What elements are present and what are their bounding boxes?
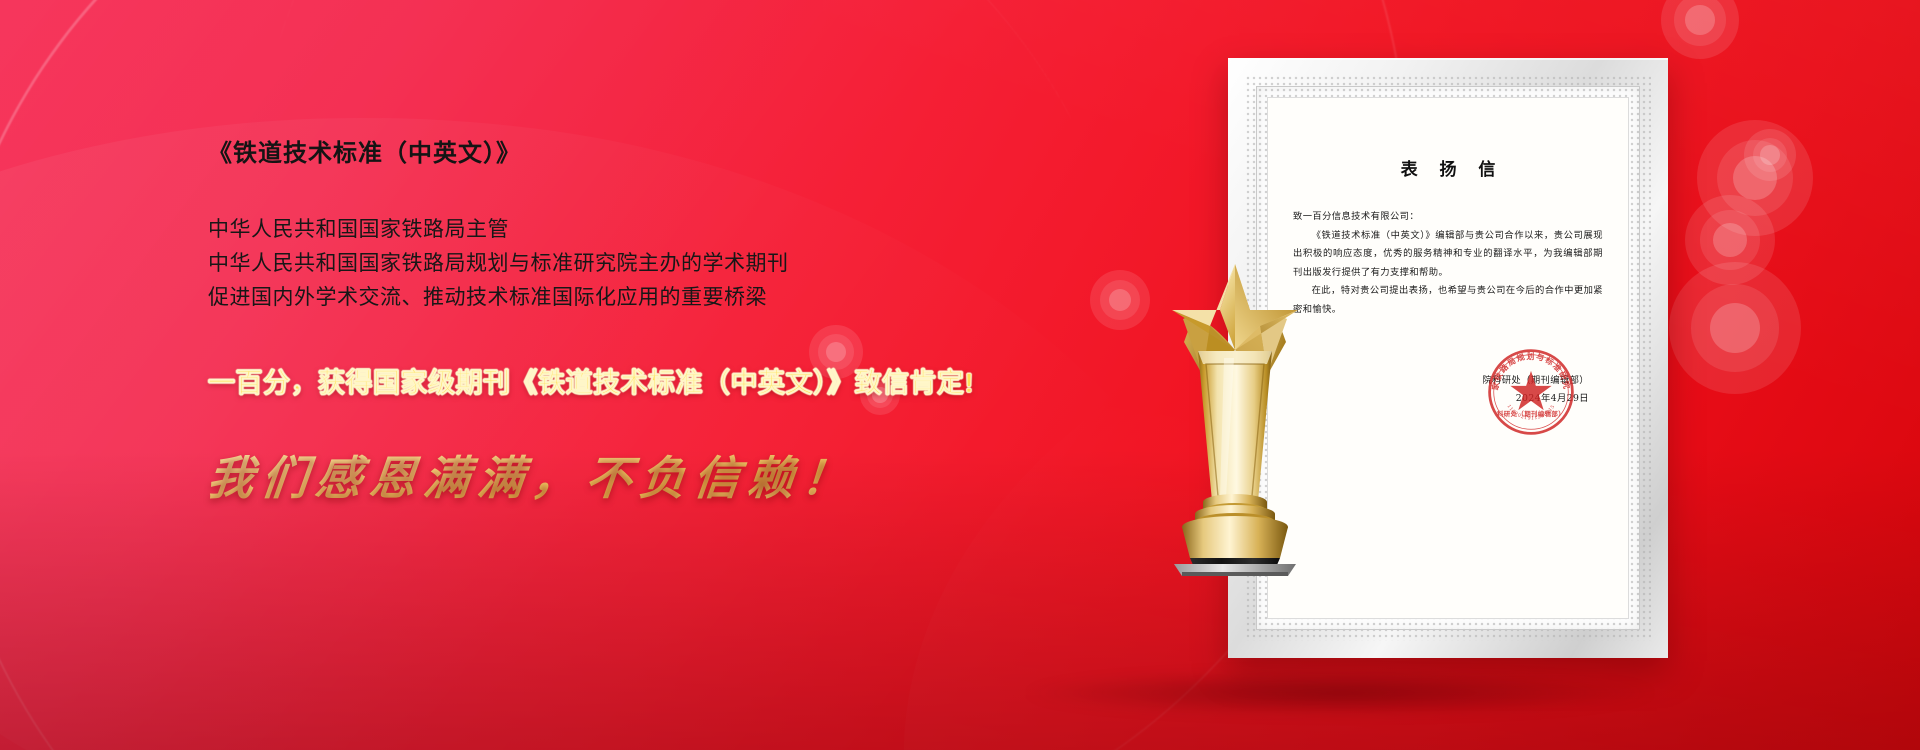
award-banner: 《铁道技术标准（中英文）》 中华人民共和国国家铁路局主管 中华人民共和国国家铁路… <box>0 0 1920 750</box>
journal-subtitle-item: 中华人民共和国国家铁路局主管 <box>208 213 1028 247</box>
star-trophy-icon <box>1140 246 1330 576</box>
certificate-paragraph: 在此，特对贵公司提出表扬，也希望与贵公司在今后的合作中更加紧密和愉快。 <box>1293 282 1603 319</box>
journal-subtitle-item: 中华人民共和国国家铁路局规划与标准研究院主办的学术期刊 <box>208 247 1028 281</box>
bokeh-circle <box>1661 0 1739 59</box>
official-seal-icon: 国家铁路局规划与标准研究院 1102021911230015 科研处（期刊编辑部… <box>1485 346 1577 438</box>
trophy-floor-shadow <box>1020 670 1660 716</box>
gratitude-slogan: 我们感恩满满，不负信赖！ <box>205 442 1032 508</box>
certificate-paragraph: 《铁道技术标准（中英文）》编辑部与贵公司合作以来，贵公司展现出积极的响应态度，优… <box>1293 227 1603 283</box>
certificate-body: 致一百分信息技术有限公司： 《铁道技术标准（中英文）》编辑部与贵公司合作以来，贵… <box>1293 208 1603 320</box>
certificate-salutation: 致一百分信息技术有限公司： <box>1293 208 1603 227</box>
journal-subtitle-item: 促进国内外学术交流、推动技术标准国际化应用的重要桥梁 <box>208 281 1028 315</box>
bokeh-circle <box>1744 129 1796 181</box>
bokeh-circle <box>1697 120 1813 236</box>
bokeh-circle <box>1685 195 1775 285</box>
svg-text:科研处（期刊编辑部）: 科研处（期刊编辑部） <box>1497 408 1565 417</box>
certificate-signature-block: 国家铁路局规划与标准研究院 1102021911230015 科研处（期刊编辑部… <box>1293 372 1603 409</box>
certificate-title: 表 扬 信 <box>1293 155 1603 180</box>
bokeh-circle <box>1669 262 1801 394</box>
journal-subtitle-list: 中华人民共和国国家铁路局主管 中华人民共和国国家铁路局规划与标准研究院主办的学术… <box>208 213 1028 315</box>
banner-copy: 《铁道技术标准（中英文）》 中华人民共和国国家铁路局主管 中华人民共和国国家铁路… <box>208 140 1028 508</box>
journal-title: 《铁道技术标准（中英文）》 <box>208 140 1028 169</box>
award-headline: 一百分，获得国家级期刊《铁道技术标准（中英文）》致信肯定! <box>208 361 1028 400</box>
